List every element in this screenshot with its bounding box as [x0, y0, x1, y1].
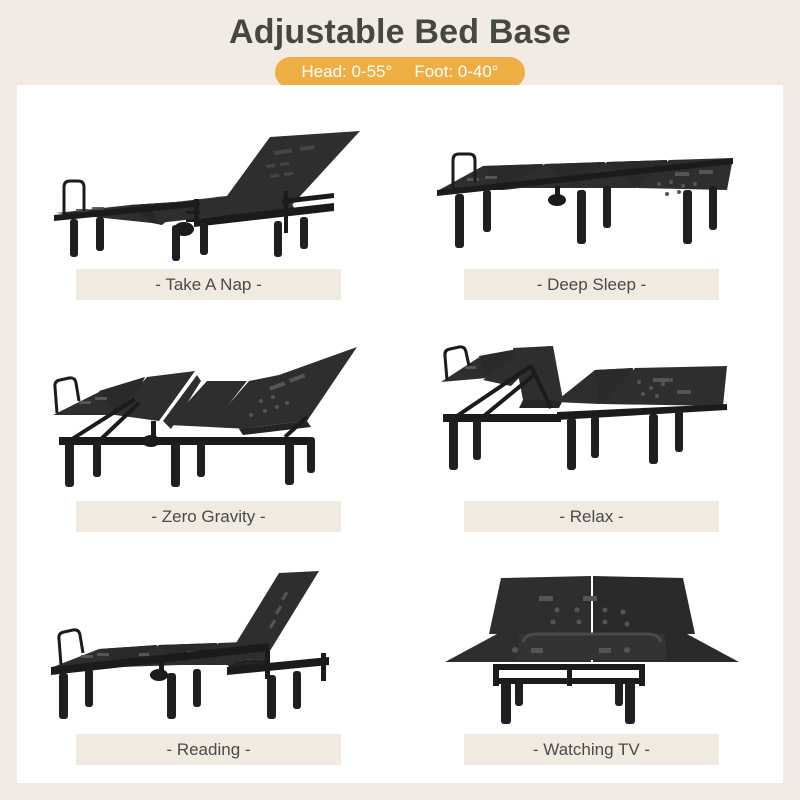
bed-illustration-zero-gravity	[17, 318, 400, 502]
position-cell-take-a-nap: - Take A Nap -	[17, 85, 400, 318]
bed-illustration-deep-sleep	[400, 85, 783, 269]
caption-zero-gravity: - Zero Gravity -	[76, 501, 341, 532]
bed-flat-icon	[427, 102, 757, 252]
position-cell-relax: - Relax -	[400, 318, 783, 551]
bed-head-raised-steep-icon	[39, 565, 379, 720]
position-cell-zero-gravity: - Zero Gravity -	[17, 318, 400, 551]
position-cell-watching-tv: - Watching TV -	[400, 550, 783, 783]
bed-head-raised-55-icon	[34, 93, 384, 261]
badge-head-range: Head: 0-55°	[301, 61, 392, 83]
caption-relax: - Relax -	[464, 501, 719, 532]
positions-grid: - Take A Nap -	[17, 85, 783, 783]
bed-front-head-raised-icon	[427, 560, 757, 725]
bed-illustration-relax	[400, 318, 783, 502]
bed-illustration-take-a-nap	[17, 85, 400, 269]
poster-root: Adjustable Bed Base Head: 0-55° Foot: 0-…	[0, 0, 800, 800]
positions-panel: - Take A Nap -	[17, 85, 783, 783]
page-title: Adjustable Bed Base	[0, 0, 800, 54]
badge-foot-range: Foot: 0-40°	[414, 61, 498, 83]
caption-reading: - Reading -	[76, 734, 341, 765]
bed-illustration-watching-tv	[400, 550, 783, 734]
angle-range-badge: Head: 0-55° Foot: 0-40°	[275, 57, 524, 88]
caption-watching-tv: - Watching TV -	[464, 734, 719, 765]
bed-foot-raised-icon	[427, 334, 757, 484]
badge-row: Head: 0-55° Foot: 0-40°	[0, 57, 800, 88]
position-cell-reading: - Reading -	[17, 550, 400, 783]
caption-take-a-nap: - Take A Nap -	[76, 269, 341, 300]
poster-header: Adjustable Bed Base Head: 0-55° Foot: 0-…	[0, 0, 800, 86]
bed-illustration-reading	[17, 550, 400, 734]
bed-zero-gravity-icon	[39, 329, 379, 489]
position-cell-deep-sleep: - Deep Sleep -	[400, 85, 783, 318]
caption-deep-sleep: - Deep Sleep -	[464, 269, 719, 300]
